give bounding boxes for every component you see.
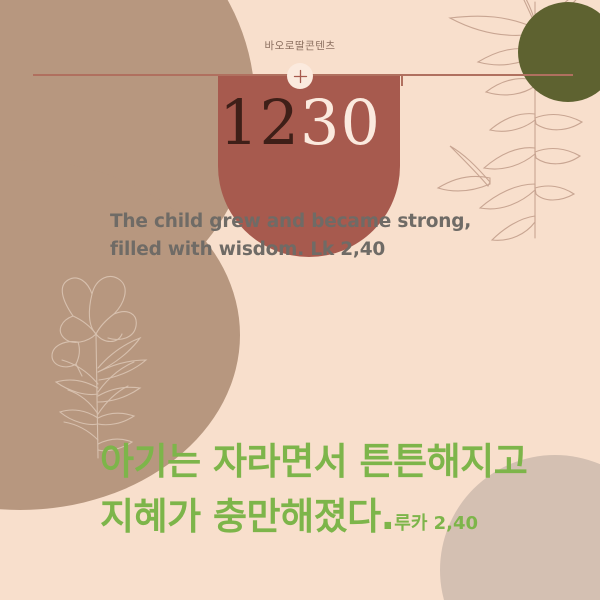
verse-korean: 아기는 자라면서 튼튼해지고 지혜가 충만해졌다.루카 2,40: [100, 435, 600, 545]
verse-korean-line2: 지혜가 충만해졌다.: [100, 495, 394, 538]
verse-english: The child grew and became strong, filled…: [110, 208, 530, 264]
verse-korean-line2-wrap: 지혜가 충만해졌다.루카 2,40: [100, 490, 600, 545]
verse-english-line1: The child grew and became strong,: [110, 208, 530, 236]
verse-korean-line1: 아기는 자라면서 튼튼해지고: [100, 435, 600, 490]
cross-icon: [293, 69, 308, 84]
date-number: 1230: [0, 92, 600, 154]
verse-korean-reference: 루카 2,40: [394, 513, 478, 534]
devotional-card: 바오로딸콘텐츠 1230 The child grew and became s…: [0, 0, 600, 600]
date-number-dark: 12: [219, 86, 300, 159]
rule-tick-mark: [401, 74, 403, 86]
verse-english-line2: filled with wisdom. Lk 2,40: [110, 236, 530, 264]
brand-label: 바오로딸콘텐츠: [0, 38, 600, 53]
date-number-light: 30: [300, 86, 381, 159]
